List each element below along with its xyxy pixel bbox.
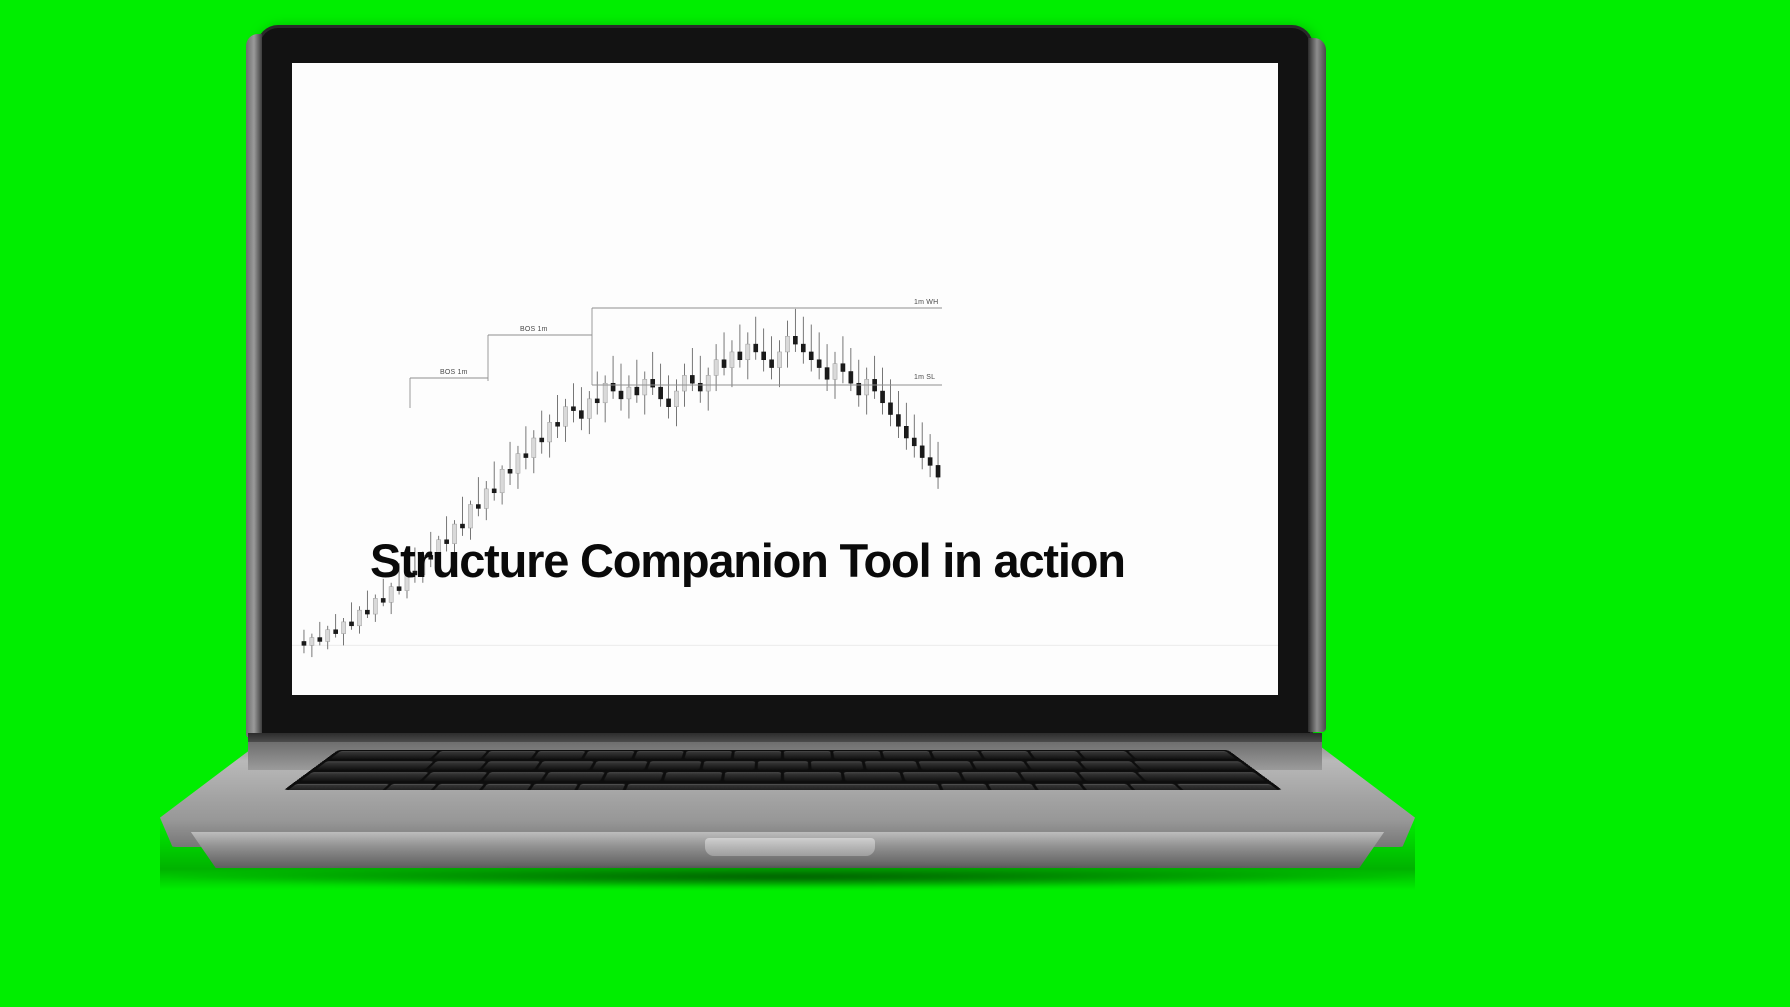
- keyboard-key[interactable]: [972, 761, 1028, 769]
- keyboard-key[interactable]: [428, 761, 487, 769]
- keyboard-key[interactable]: [757, 761, 809, 769]
- keyboard-key[interactable]: [316, 761, 433, 769]
- keyboard-key[interactable]: [785, 772, 842, 781]
- lid-edge-left: [246, 34, 262, 738]
- keyboard-key[interactable]: [811, 761, 863, 769]
- annotation-bos-1m-lower: BOS 1m: [440, 369, 468, 376]
- keyboard-key[interactable]: [940, 784, 989, 790]
- keyboard-key[interactable]: [634, 751, 684, 759]
- laptop-keyboard[interactable]: [284, 750, 1283, 790]
- keyboard-key[interactable]: [647, 761, 701, 769]
- keyboard-key[interactable]: [423, 772, 487, 781]
- keyboard-key[interactable]: [533, 751, 585, 759]
- keyboard-key[interactable]: [724, 772, 781, 781]
- keyboard-key[interactable]: [843, 772, 901, 781]
- keyboard-key[interactable]: [300, 772, 428, 781]
- keyboard-key[interactable]: [1082, 784, 1135, 790]
- keyboard-key[interactable]: [702, 761, 754, 769]
- keyboard-key[interactable]: [1177, 784, 1282, 790]
- keyboard-key[interactable]: [1078, 772, 1142, 781]
- keyboard-key[interactable]: [604, 772, 664, 781]
- keyboard-key[interactable]: [583, 751, 634, 759]
- keyboard-key[interactable]: [330, 751, 437, 759]
- keyboard-key[interactable]: [932, 751, 983, 759]
- keyboard-key[interactable]: [576, 784, 625, 790]
- keyboard-key[interactable]: [988, 784, 1038, 790]
- keyboard-key[interactable]: [1133, 761, 1250, 769]
- keyboard-key[interactable]: [902, 772, 962, 781]
- keyboard-row: [310, 760, 1257, 771]
- keyboard-key[interactable]: [483, 772, 546, 781]
- page-title: Structure Companion Tool in action: [370, 533, 1230, 588]
- keyboard-key[interactable]: [284, 784, 389, 790]
- keyboard-key[interactable]: [961, 772, 1022, 781]
- keyboard-key[interactable]: [664, 772, 722, 781]
- keyboard-key[interactable]: [483, 751, 536, 759]
- lid-edge-right: [1308, 38, 1326, 732]
- keyboard-key[interactable]: [1035, 784, 1087, 790]
- laptop-drop-shadow: [170, 866, 1410, 888]
- keyboard-key[interactable]: [1130, 784, 1184, 790]
- keyboard-key[interactable]: [528, 784, 578, 790]
- annotation-1m-strong-low: 1m SL: [914, 374, 935, 381]
- keyboard-key[interactable]: [981, 751, 1033, 759]
- keyboard-row: [284, 782, 1283, 790]
- keyboard-key[interactable]: [734, 751, 781, 759]
- keyboard-key[interactable]: [1137, 772, 1265, 781]
- keyboard-key[interactable]: [834, 751, 882, 759]
- keyboard-key[interactable]: [865, 761, 919, 769]
- laptop-device: BOS 1m BOS 1m 1m WH 1m SL Structure Comp…: [160, 20, 1415, 900]
- keyboard-row: [294, 771, 1272, 783]
- keyboard-key[interactable]: [1080, 761, 1139, 769]
- keyboard-key[interactable]: [432, 751, 486, 759]
- green-screen-stage: BOS 1m BOS 1m 1m WH 1m SL Structure Comp…: [0, 0, 1790, 1007]
- keyboard-key[interactable]: [544, 772, 605, 781]
- keyboard-key[interactable]: [479, 784, 531, 790]
- keyboard-key[interactable]: [1020, 772, 1083, 781]
- keyboard-key[interactable]: [537, 761, 593, 769]
- laptop-front-notch[interactable]: [705, 838, 875, 856]
- keyboard-key[interactable]: [684, 751, 732, 759]
- candlestick-chart[interactable]: BOS 1m BOS 1m 1m WH 1m SL: [292, 63, 1278, 695]
- keyboard-key[interactable]: [482, 761, 540, 769]
- keyboard-key[interactable]: [1129, 751, 1236, 759]
- annotation-bos-1m-upper: BOS 1m: [520, 326, 548, 333]
- annotation-1m-weak-high: 1m WH: [914, 299, 938, 306]
- chart-canvas: [292, 63, 1278, 695]
- keyboard-key[interactable]: [919, 761, 974, 769]
- keyboard-key[interactable]: [1026, 761, 1084, 769]
- keyboard-key[interactable]: [625, 784, 941, 790]
- keyboard-key[interactable]: [382, 784, 436, 790]
- keyboard-key[interactable]: [1030, 751, 1083, 759]
- laptop-screen[interactable]: BOS 1m BOS 1m 1m WH 1m SL Structure Comp…: [292, 63, 1278, 695]
- keyboard-key[interactable]: [883, 751, 933, 759]
- keyboard-key[interactable]: [1079, 751, 1133, 759]
- laptop-lid: BOS 1m BOS 1m 1m WH 1m SL Structure Comp…: [260, 28, 1310, 738]
- keyboard-key[interactable]: [431, 784, 484, 790]
- keyboard-row: [324, 750, 1242, 760]
- keyboard-key[interactable]: [784, 751, 831, 759]
- keyboard-key[interactable]: [592, 761, 647, 769]
